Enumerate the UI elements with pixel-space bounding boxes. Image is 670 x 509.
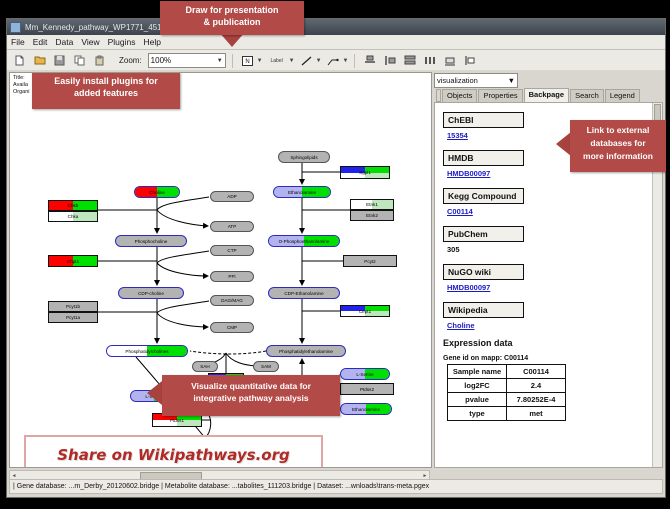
node-label: Sphingolipids [290, 155, 317, 160]
node-label: O-Phosphoethanolamine [279, 239, 330, 244]
callout-share-text: Share on Wikipathways.org [57, 446, 289, 464]
pathway-node-phosphatidylethanolamine[interactable]: Phosphatidylethanolamine [266, 345, 346, 357]
visualization-dropdown[interactable]: visualization ▼ [434, 73, 518, 88]
visualization-value: visualization [437, 76, 478, 85]
line-tool-group[interactable]: ▼ [298, 52, 322, 69]
callout-quant-line1: Visualize quantitative data for [162, 380, 340, 392]
pathway-node-sphingolipids[interactable]: Sphingolipids [278, 151, 330, 163]
callout-quant-arrow [147, 381, 162, 405]
node-label: Phosphocholine [135, 239, 168, 244]
expression-data-title: Expression data [443, 338, 646, 348]
node-label: L-Serine [356, 372, 373, 377]
pathway-node-ethanolamine-top[interactable]: Ethanolamine [273, 186, 331, 198]
size-icon[interactable] [441, 52, 458, 69]
pathway-node-ptdss2[interactable]: Ptdss2 [340, 383, 394, 395]
callout-draw-line2: & publication [160, 16, 304, 28]
zoom-value: 100% [151, 56, 171, 65]
tab-legend[interactable]: Legend [605, 89, 640, 102]
datanode-tool-group[interactable]: N ▼ [239, 52, 263, 69]
pathway-node-pcyt1b[interactable]: Pcyt1b [48, 301, 98, 312]
open-folder-icon[interactable] [31, 52, 48, 69]
callout-quantitative: Visualize quantitative data for integrat… [162, 375, 340, 416]
expr-label-sample: Sample name [448, 365, 507, 379]
backpage-header-hmdb: HMDB [443, 150, 524, 166]
backpage-link-kegg[interactable]: C00114 [447, 207, 646, 216]
pathway-node-cdp-ethanolamine[interactable]: CDP-Ethanolamine [268, 287, 340, 299]
pathway-node-ethanolamine-right[interactable]: Ethanolamine [340, 403, 392, 415]
pathway-node-cdp-choline[interactable]: CDP-choline [118, 287, 184, 299]
node-label: CMP [227, 325, 237, 330]
tab-objects[interactable]: Objects [442, 89, 477, 102]
callout-plugins: Easily install plugins for added feature… [32, 72, 180, 109]
menu-item-file[interactable]: File [11, 37, 25, 47]
node-label: Ptdss1 [170, 418, 184, 423]
pathway-node-etnk1[interactable]: Etnk1 [350, 199, 394, 210]
node-label: Etnk1 [366, 202, 378, 207]
zoom-combo[interactable]: 100% ▼ [148, 53, 226, 68]
pathway-node-sah[interactable]: SAH [192, 361, 218, 372]
node-label: Chka [68, 214, 79, 219]
pathway-node-chpt1[interactable]: Chpt1 [48, 255, 98, 267]
table-row: type met [448, 407, 566, 421]
callout-plugins-line2: added features [32, 87, 180, 99]
node-label: Chkb [68, 203, 79, 208]
pathvisio-window: Mm_Kennedy_pathway_WP1771_45176.gpml Fil… [6, 18, 666, 498]
zoom-label: Zoom: [119, 56, 142, 65]
status-area: ◄ ► | Gene database: ...m_Derby_20120602… [7, 470, 665, 497]
node-label: Ptdss2 [360, 387, 374, 392]
chevron-down-icon[interactable]: ▼ [316, 58, 322, 64]
node-label: Chpt1 [67, 259, 79, 264]
pathway-node-phosphocholine[interactable]: Phosphocholine [115, 235, 187, 247]
distribute-icon[interactable] [421, 52, 438, 69]
pathway-node-sam[interactable]: SAM [253, 361, 279, 372]
side-panel-tabs: Objects Properties Backpage Search Legen… [434, 88, 663, 102]
expr-label-log2fc: log2FC [448, 379, 507, 393]
paste-icon[interactable] [91, 52, 108, 69]
node-label: Ethanolamine [288, 190, 316, 195]
node-label: Pcyt1a [66, 315, 80, 320]
backpage-header-kegg: Kegg Compound [443, 188, 524, 204]
backpage-value-pubchem: 305 [447, 245, 646, 254]
node-label: Pcyt2 [364, 259, 376, 264]
toolbar-separator [232, 54, 233, 68]
expr-label-type: type [448, 407, 507, 421]
pathway-node-cmp[interactable]: CMP [210, 322, 254, 333]
menu-item-edit[interactable]: Edit [33, 37, 48, 47]
menu-item-help[interactable]: Help [144, 37, 161, 47]
callout-share: Share on Wikipathways.org [24, 435, 323, 468]
table-row: log2FC 2.4 [448, 379, 566, 393]
node-label: Phosphatidylcholines [125, 349, 168, 354]
save-icon[interactable] [51, 52, 68, 69]
title-bar: Mm_Kennedy_pathway_WP1771_45176.gpml [7, 19, 665, 35]
line-icon[interactable] [298, 52, 315, 69]
interaction-tool-group[interactable]: ▼ [325, 52, 349, 69]
backpage-link-wikipedia[interactable]: Choline [447, 321, 646, 330]
visualization-row: visualization ▼ [434, 72, 663, 88]
screenshot-root: Mm_Kennedy_pathway_WP1771_45176.gpml Fil… [0, 0, 670, 509]
node-label: CTP [227, 248, 236, 253]
menu-item-plugins[interactable]: Plugins [108, 37, 136, 47]
pathway-node-chkb[interactable]: Chkb [48, 200, 98, 211]
pathway-node-ppi[interactable]: PPi [210, 271, 254, 282]
callout-links-arrow [556, 132, 571, 156]
toolbar-separator [354, 54, 355, 68]
chevron-down-icon: ▼ [508, 76, 515, 85]
backpage-header-chebi: ChEBI [443, 112, 524, 128]
node-label: SAM [261, 364, 271, 369]
table-row: Sample name C00114 [448, 365, 566, 379]
node-label: Choline [149, 190, 165, 195]
node-label: DAG/MAG [221, 298, 243, 303]
chevron-down-icon[interactable]: ▼ [343, 58, 349, 64]
pathway-node-atp[interactable]: ATP [210, 221, 254, 232]
menu-item-view[interactable]: View [81, 37, 99, 47]
scroll-right-icon[interactable]: ► [421, 472, 429, 479]
node-label: Ethanolamine [352, 407, 380, 412]
node-label: Phosphatidylethanolamine [279, 349, 333, 354]
expr-value-sample: C00114 [507, 365, 566, 379]
svg-text:N: N [245, 59, 249, 65]
node-label: Pcyt1b [66, 304, 80, 309]
backpage-header-pubchem: PubChem [443, 226, 524, 242]
align-top-icon[interactable] [361, 52, 378, 69]
callout-draw-line1: Draw for presentation [160, 4, 304, 16]
pathway-node-pcyt1a[interactable]: Pcyt1a [48, 312, 98, 323]
backpage-header-nugo: NuGO wiki [443, 264, 524, 280]
node-label: SAH [200, 364, 209, 369]
status-bar: | Gene database: ...m_Derby_20120602.bri… [9, 479, 663, 494]
callout-links-line1: Link to external [570, 124, 666, 137]
expr-value-log2fc: 2.4 [507, 379, 566, 393]
app-icon [10, 22, 21, 33]
pathway-node-l-serine-right[interactable]: L-Serine [340, 368, 390, 380]
label-tool-group[interactable]: Label ▼ [266, 52, 295, 69]
node-label: Cept1 [359, 309, 371, 314]
callout-plugins-line1: Easily install plugins for [32, 75, 180, 87]
chevron-down-icon[interactable]: ▼ [257, 58, 263, 64]
node-label: ATP [228, 224, 237, 229]
copy-icon[interactable] [71, 52, 88, 69]
pathway-node-pcyt2[interactable]: Pcyt2 [343, 255, 397, 267]
callout-links: Link to external databases for more info… [570, 120, 666, 172]
align-left-icon[interactable] [381, 52, 398, 69]
menu-item-data[interactable]: Data [55, 37, 73, 47]
pathway-node-adp[interactable]: ADP [210, 191, 254, 202]
pathway-node-etnk2[interactable]: Etnk2 [350, 210, 394, 221]
tab-search[interactable]: Search [570, 89, 604, 102]
backpage-header-wikipedia: Wikipedia [443, 302, 524, 318]
callout-links-line3: more information [570, 150, 666, 163]
tab-properties[interactable]: Properties [478, 89, 522, 102]
tool-bar: Zoom: 100% ▼ N ▼ Label ▼ ▼ [7, 50, 665, 72]
chevron-down-icon[interactable]: ▼ [289, 58, 295, 64]
gene-id-line: Gene id on mapp: C00114 [443, 355, 646, 362]
pathway-node-phosphatidylcholines[interactable]: Phosphatidylcholines [106, 345, 188, 357]
pathway-node-cept1[interactable]: Cept1 [340, 305, 390, 317]
callout-links-line2: databases for [570, 137, 666, 150]
chevron-down-icon: ▼ [217, 58, 223, 64]
main-content: Title: Availa Organi [7, 70, 665, 470]
pathway-node-choline-top[interactable]: Choline [134, 186, 180, 198]
expression-table: Sample name C00114 log2FC 2.4 pvalue 7.8… [447, 364, 566, 421]
label-icon[interactable]: Label [266, 52, 288, 69]
pathway-node-o-phosphoethanolamine[interactable]: O-Phosphoethanolamine [268, 235, 340, 247]
backpage-link-nugo[interactable]: HMDB00097 [447, 283, 646, 292]
node-label: Etnk2 [366, 213, 378, 218]
menu-bar: File Edit Data View Plugins Help [7, 35, 665, 50]
node-label: ADP [227, 194, 236, 199]
node-label: Sgpl1 [359, 170, 371, 175]
pathway-node-dagmag[interactable]: DAG/MAG [210, 295, 254, 306]
pathway-node-ctp[interactable]: CTP [210, 245, 254, 256]
expr-value-type: met [507, 407, 566, 421]
node-label: PPi [228, 274, 235, 279]
pathway-node-chka[interactable]: Chka [48, 211, 98, 222]
status-bar-text: | Gene database: ...m_Derby_20120602.bri… [13, 483, 429, 490]
callout-quant-line2: integrative pathway analysis [162, 392, 340, 404]
new-file-icon[interactable] [11, 52, 28, 69]
scroll-left-icon[interactable]: ◄ [10, 472, 18, 479]
datanode-icon[interactable]: N [239, 52, 256, 69]
table-row: pvalue 7.80252E-4 [448, 393, 566, 407]
node-label: CDP-Ethanolamine [284, 291, 323, 296]
expr-value-pvalue: 7.80252E-4 [507, 393, 566, 407]
pathway-canvas[interactable]: Title: Availa Organi [9, 72, 432, 468]
node-label: CDP-choline [138, 291, 164, 296]
expr-label-pvalue: pvalue [448, 393, 507, 407]
interaction-icon[interactable] [325, 52, 342, 69]
tab-backpage[interactable]: Backpage [524, 88, 569, 102]
order-icon[interactable] [461, 52, 478, 69]
callout-draw: Draw for presentation & publication [160, 1, 304, 35]
stack-icon[interactable] [401, 52, 418, 69]
pathway-node-sgpl1[interactable]: Sgpl1 [340, 166, 390, 179]
